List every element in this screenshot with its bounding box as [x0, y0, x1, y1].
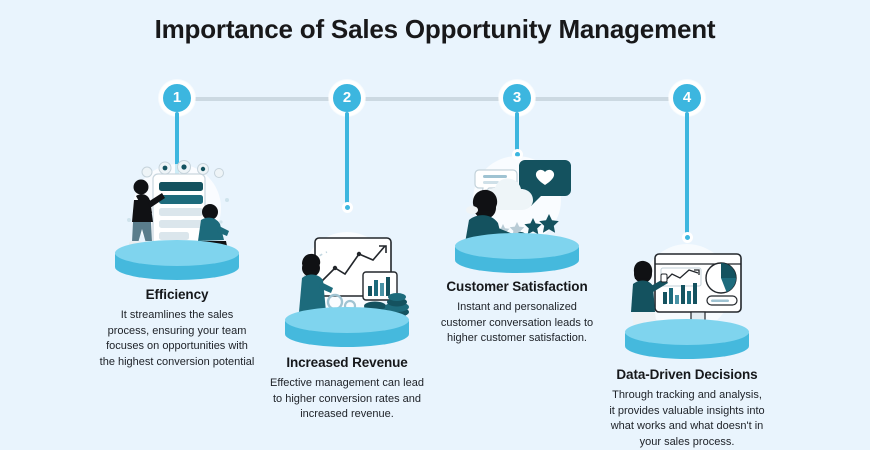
timeline-node-4[interactable]: 4 [669, 80, 705, 116]
step-body-3: Instant and personalized customer conver… [429, 300, 605, 347]
timeline-node-2[interactable]: 2 [329, 80, 365, 116]
timeline-connector-3-4 [530, 97, 682, 101]
timeline-stem-2 [345, 112, 349, 207]
step-card-2: Increased Revenue Effective management c… [259, 228, 435, 423]
step-heading-2: Increased Revenue [259, 354, 435, 372]
infographic-canvas: Importance of Sales Opportunity Manageme… [0, 0, 870, 450]
person-growth-chart-coins-illustration [259, 228, 435, 350]
timeline-stem-dot-2 [342, 202, 353, 213]
timeline-connector-2-3 [360, 97, 512, 101]
step-heading-4: Data-Driven Decisions [599, 366, 775, 384]
step-card-4: Data-Driven Decisions Through tracking a… [599, 240, 775, 450]
page-title: Importance of Sales Opportunity Manageme… [0, 13, 870, 45]
timeline-stem-3 [515, 112, 519, 154]
two-people-checklist-illustration [89, 160, 265, 282]
timeline-node-1[interactable]: 1 [159, 80, 195, 116]
person-analytics-dashboard-illustration [599, 240, 775, 362]
step-body-2: Effective management can lead to higher … [259, 376, 435, 423]
step-body-4: Through tracking and analysis, it provid… [599, 388, 775, 450]
timeline-stem-4 [685, 112, 689, 237]
timeline-connector-1-2 [190, 97, 342, 101]
step-heading-3: Customer Satisfaction [429, 278, 605, 296]
person-heart-star-rating-illustration [429, 152, 605, 274]
timeline-node-3[interactable]: 3 [499, 80, 535, 116]
step-body-1: It streamlines the sales process, ensuri… [89, 308, 265, 370]
step-card-1: Efficiency It streamlines the sales proc… [89, 160, 265, 370]
step-card-3: Customer Satisfaction Instant and person… [429, 152, 605, 347]
step-heading-1: Efficiency [89, 286, 265, 304]
